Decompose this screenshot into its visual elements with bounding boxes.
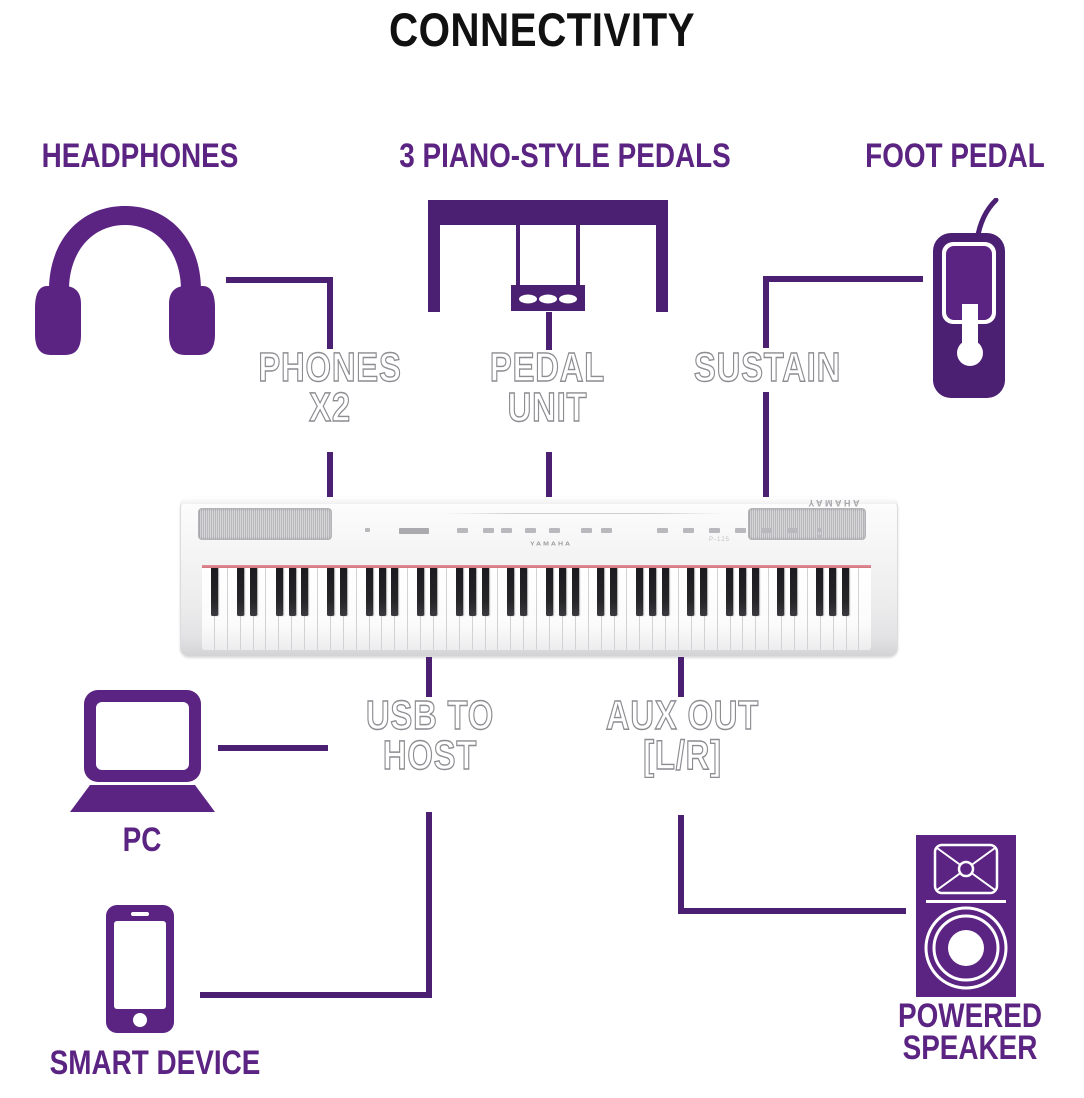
black-key[interactable] [211, 568, 218, 616]
black-key[interactable] [777, 568, 784, 616]
label-pc: PC [85, 824, 200, 857]
label-foot-pedal: FOOT PEDAL [836, 140, 1074, 173]
black-key[interactable] [829, 568, 836, 616]
control-panel[interactable] [365, 524, 808, 538]
port-usb-line2: HOST [383, 732, 477, 778]
black-key[interactable] [366, 568, 373, 616]
three-pedal-unit-icon [428, 200, 668, 312]
port-label-sustain: SUSTAIN [678, 348, 858, 388]
panel-button-14[interactable] [817, 528, 822, 532]
panel-button-power[interactable] [365, 528, 370, 532]
wire-footpedal-v [763, 276, 769, 348]
port-aux-line2: [L/R] [643, 732, 722, 778]
black-keys[interactable] [202, 568, 871, 616]
digital-piano: YAMAHA YAMAHA P-125 [180, 497, 898, 657]
wire-headphones-h [226, 277, 333, 283]
black-key[interactable] [379, 568, 386, 616]
smartphone-icon [106, 905, 174, 1033]
yamaha-panel-logo: YAMAHA [530, 542, 572, 548]
black-key[interactable] [469, 568, 476, 616]
panel-button-2[interactable] [483, 528, 494, 533]
black-key[interactable] [520, 568, 527, 616]
wire-aux-down [678, 815, 684, 914]
panel-button-5[interactable] [549, 528, 560, 533]
panel-button-10[interactable] [709, 528, 720, 533]
black-key[interactable] [391, 568, 398, 616]
panel-button-15[interactable] [817, 535, 822, 539]
black-key[interactable] [816, 568, 823, 616]
port-label-pedal-unit: PEDALUNIT [462, 348, 634, 428]
yamaha-brand-logo: YAMAHA [808, 498, 862, 508]
wire-keyboard-to-usb [426, 657, 432, 697]
black-key[interactable] [276, 568, 283, 616]
black-key[interactable] [559, 568, 566, 616]
black-key[interactable] [327, 568, 334, 616]
black-key[interactable] [289, 568, 296, 616]
port-label-aux-out: AUX OUT[L/R] [593, 696, 773, 776]
black-key[interactable] [546, 568, 553, 616]
black-key[interactable] [739, 568, 746, 616]
black-key[interactable] [250, 568, 257, 616]
panel-button-4[interactable] [525, 528, 536, 533]
piano-top-edge [180, 497, 898, 504]
powered-speaker-icon [916, 835, 1016, 997]
wire-pedalunit-to-keyboard [546, 452, 552, 498]
page-title: CONNECTIVITY [76, 2, 1008, 57]
keybed[interactable] [202, 565, 871, 650]
black-key[interactable] [301, 568, 308, 616]
speaker-grille-left [198, 508, 332, 540]
black-key[interactable] [752, 568, 759, 616]
panel-button-1[interactable] [457, 528, 468, 533]
black-key[interactable] [456, 568, 463, 616]
black-key[interactable] [726, 568, 733, 616]
panel-display[interactable] [399, 528, 429, 534]
black-key[interactable] [662, 568, 669, 616]
port-phones-line2: X2 [309, 384, 351, 430]
black-key[interactable] [417, 568, 424, 616]
black-key[interactable] [687, 568, 694, 616]
label-powered-speaker-line2: SPEAKER [903, 1029, 1038, 1067]
wire-phones-to-keyboard [327, 452, 333, 498]
label-powered-speaker: POWERED SPEAKER [872, 1000, 1069, 1065]
wire-usb-down [426, 812, 432, 998]
panel-button-6[interactable] [581, 528, 592, 533]
panel-button-3[interactable] [501, 528, 512, 533]
laptop-icon [70, 690, 215, 812]
port-label-phones: PHONESX2 [238, 348, 422, 428]
wire-headphones-v [327, 277, 333, 349]
black-key[interactable] [700, 568, 707, 616]
black-key[interactable] [340, 568, 347, 616]
label-headphones: HEADPHONES [17, 140, 263, 173]
black-key[interactable] [430, 568, 437, 616]
black-key[interactable] [597, 568, 604, 616]
label-smart-device: SMART DEVICE [24, 1047, 286, 1080]
connectivity-diagram: CONNECTIVITY HEADPHONES 3 PIANO-STYLE PE… [0, 0, 1084, 1098]
black-key[interactable] [507, 568, 514, 616]
black-key[interactable] [482, 568, 489, 616]
black-key[interactable] [610, 568, 617, 616]
wire-smartdevice-h [200, 992, 432, 998]
headphones-icon [35, 198, 215, 358]
wire-footpedal-h [763, 276, 923, 282]
wire-keyboard-to-aux [678, 657, 684, 697]
black-key[interactable] [649, 568, 656, 616]
panel-button-8[interactable] [657, 528, 668, 533]
panel-button-9[interactable] [683, 528, 694, 533]
black-key[interactable] [636, 568, 643, 616]
panel-button-12[interactable] [761, 528, 772, 533]
foot-pedal-icon [920, 198, 1030, 404]
panel-button-11[interactable] [735, 528, 746, 533]
wire-sustain-to-keyboard [763, 392, 769, 498]
black-key[interactable] [572, 568, 579, 616]
panel-button-13[interactable] [787, 528, 798, 533]
label-pedal-unit: 3 PIANO-STYLE PEDALS [364, 140, 766, 173]
black-key[interactable] [790, 568, 797, 616]
panel-button-7[interactable] [601, 528, 612, 533]
port-pedal-line2: UNIT [508, 384, 588, 430]
port-sustain-line1: SUSTAIN [694, 344, 841, 390]
black-key[interactable] [842, 568, 849, 616]
key-felt-strip [202, 565, 871, 568]
wire-speaker-h [678, 908, 906, 914]
port-label-usb-to-host: USB TOHOST [338, 696, 522, 776]
black-key[interactable] [237, 568, 244, 616]
wire-pc-h [218, 745, 328, 751]
panel-seam [445, 513, 723, 514]
